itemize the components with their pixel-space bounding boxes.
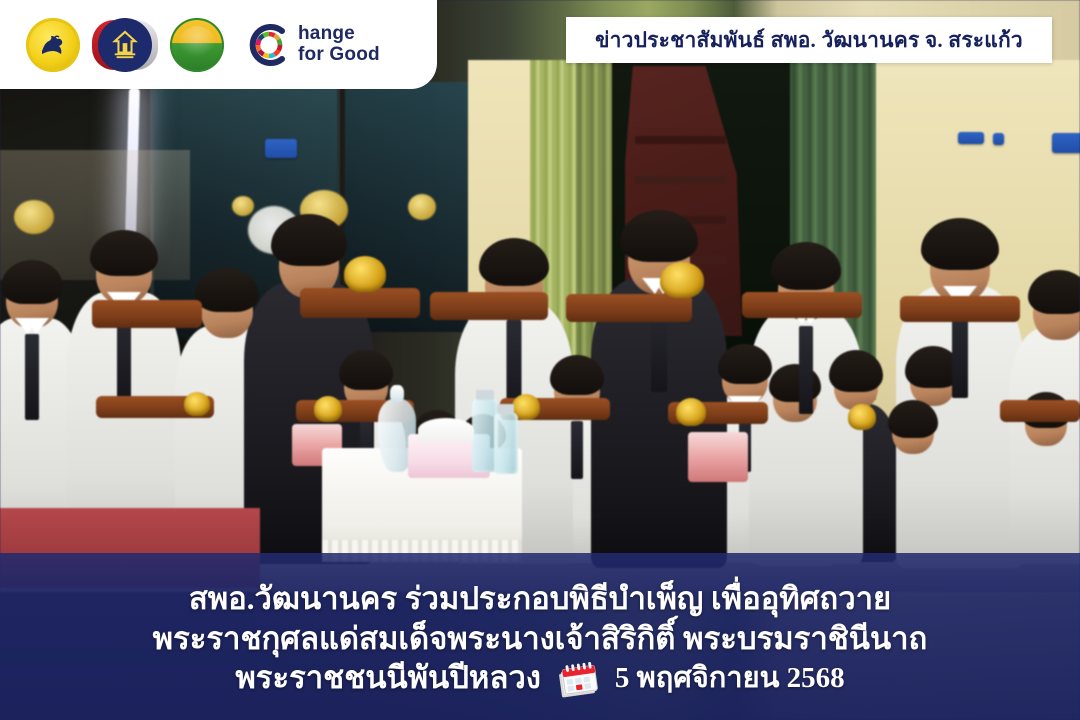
ceremonial-chair [566,294,692,322]
bottle-cap [476,390,494,400]
ceremonial-chair [92,300,202,328]
cfg-line-2: for Good [298,45,380,66]
chair-gold-finial [848,404,876,430]
caption-line-2: พระราชกุศลแด่สมเด็จพระนางเจ้าสิริกิติ์ พ… [153,619,928,659]
caption-date: 5 พฤศจิกายน 2568 [615,660,845,697]
tissue [418,418,474,442]
calendar-icon [557,660,599,700]
change-for-good-text: hange for Good [298,24,380,65]
sdg-wheel-c-icon [246,22,292,68]
lion-icon [35,27,71,63]
chair-gold-finial [314,396,342,422]
pavilion-icon [111,30,139,60]
ceremonial-chair [430,292,548,320]
ceremonial-chair [1000,400,1080,422]
chair-gold-finial [184,392,210,416]
ministry-of-interior-logo [26,18,80,72]
news-poster: hange for Good ข่าวประชาสัมพันธ์ สพอ. วั… [0,0,1080,720]
ceremonial-chair [742,292,862,318]
news-banner: ข่าวประชาสัมพันธ์ สพอ. วัฒนานคร จ. สระแก… [566,17,1052,63]
caption-line-1: สพอ.วัฒนานคร ร่วมประกอบพิธีบำเพ็ญ เพื่ออ… [189,579,891,619]
ceremonial-chair [300,288,420,318]
sufficiency-economy-logo [170,18,224,72]
water-bottle [494,412,518,474]
chair-gold-finial [344,256,386,292]
chair-gold-finial [660,262,704,298]
ceremonial-chair [900,296,1020,322]
caption-line-3-row: พระราชชนนีพันปีหลวง [235,658,844,698]
news-banner-text: ข่าวประชาสัมพันธ์ สพอ. วัฒนานคร จ. สระแก… [595,24,1023,57]
caption-bar: สพอ.วัฒนานคร ร่วมประกอบพิธีบำเพ็ญ เพื่ออ… [0,553,1080,720]
chair-gold-finial [676,398,706,426]
caption-line-3: พระราชชนนีพันปีหลวง [235,658,541,698]
cdd-logo [98,18,152,72]
cfg-line-1: hange [298,24,380,45]
bottle-cap [497,404,514,414]
chair-cushion [688,432,748,482]
change-for-good-logo: hange for Good [246,22,380,68]
logo-panel: hange for Good [0,0,437,89]
